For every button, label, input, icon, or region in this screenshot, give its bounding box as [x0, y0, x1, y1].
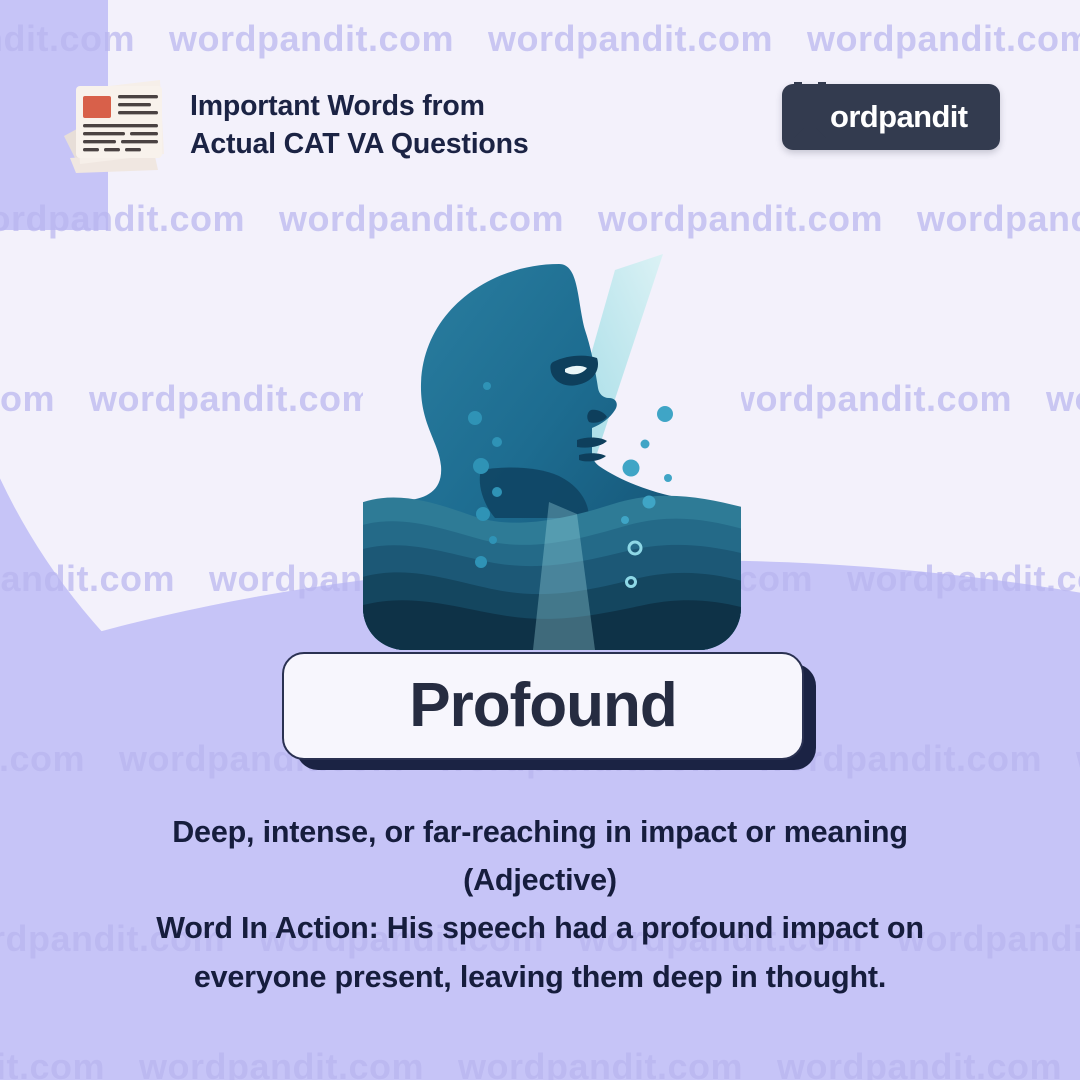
logo-text: ordpandit [830, 99, 968, 135]
word-term: Profound [409, 675, 677, 737]
definition-part-of-speech: (Adjective) [0, 856, 1080, 904]
definition-meaning: Deep, intense, or far-reaching in impact… [0, 808, 1080, 856]
header-title-line2: Actual CAT VA Questions [190, 126, 529, 164]
definition-block: Deep, intense, or far-reaching in impact… [0, 808, 1080, 1001]
word-card: Profound [282, 652, 802, 760]
example-line-1: Word In Action: His speech had a profoun… [0, 904, 1080, 952]
word-card-graphic: wordpandit.comwordpandit.comwordpandit.c… [0, 0, 1080, 1080]
bookmark-w-icon [788, 80, 832, 144]
word-card-face: Profound [282, 652, 804, 760]
header-title: Important Words from Actual CAT VA Quest… [190, 88, 529, 163]
wordpandit-logo[interactable]: ordpandit [782, 84, 1000, 150]
header-title-line1: Important Words from [190, 90, 485, 122]
submerged-head-profile-illustration [363, 252, 741, 650]
header: Important Words from Actual CAT VA Quest… [0, 0, 1080, 190]
newspaper-icon [56, 74, 174, 174]
example-line-2: everyone present, leaving them deep in t… [0, 953, 1080, 1001]
